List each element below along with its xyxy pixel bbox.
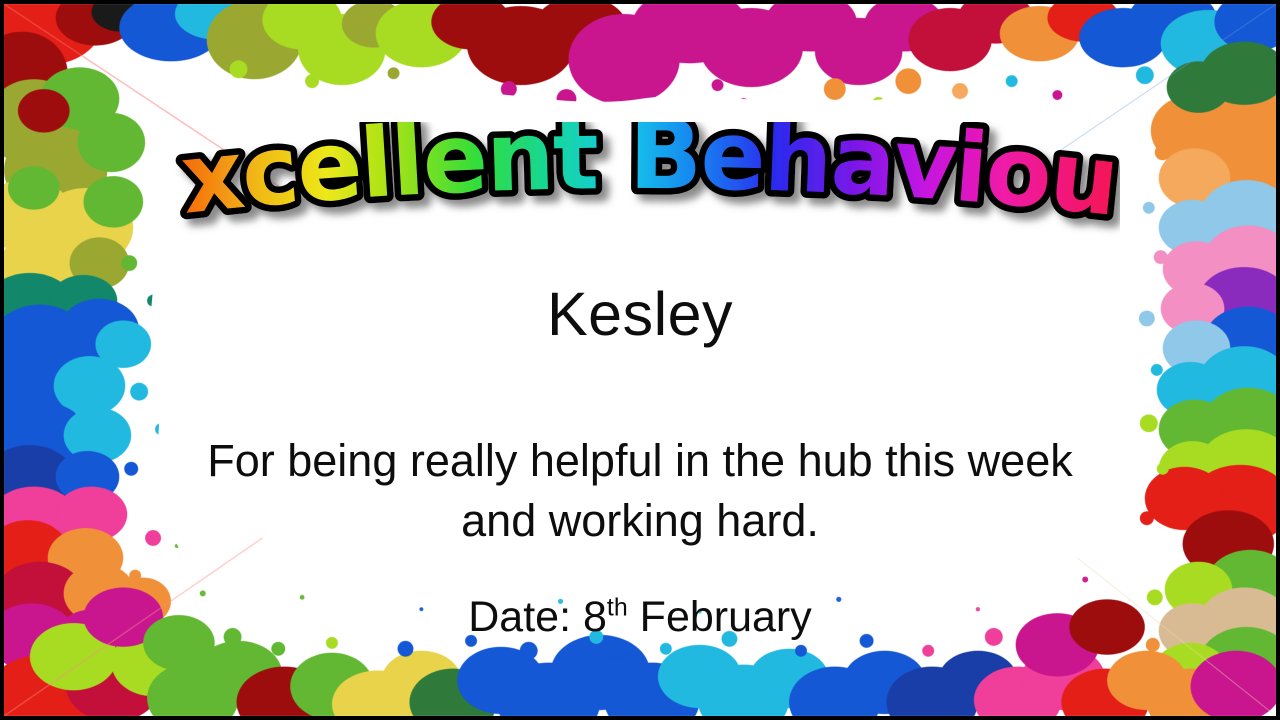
award-recipient-name: Kesley — [4, 282, 1276, 346]
title-wordart: Excellent Behaviour Excellent Behaviour — [160, 122, 1120, 252]
award-slide: Excellent Behaviour Excellent Behaviour … — [0, 0, 1280, 720]
title-fill: Excellent Behaviour — [160, 122, 1120, 238]
slide-content: Excellent Behaviour Excellent Behaviour … — [4, 4, 1276, 716]
award-date-label: Date: — [468, 593, 571, 641]
award-date-month: February — [640, 593, 812, 641]
award-date: Date: 8th February — [4, 594, 1276, 641]
award-date-ordinal: th — [607, 594, 628, 622]
award-reason: For being really helpful in the hub this… — [64, 431, 1216, 551]
award-reason-line-2: and working hard. — [64, 491, 1216, 551]
award-reason-line-1: For being really helpful in the hub this… — [64, 431, 1216, 491]
award-date-day: 8 — [583, 593, 607, 641]
